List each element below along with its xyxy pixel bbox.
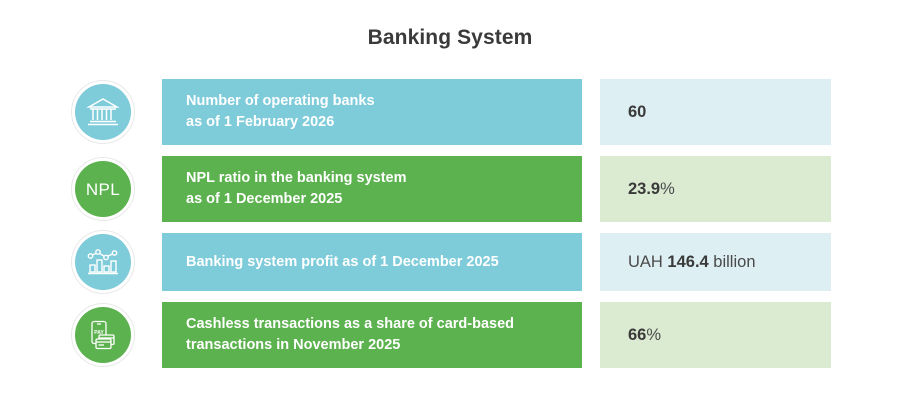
- value-main: 146.4: [667, 253, 708, 271]
- metric-value: 60: [628, 103, 646, 121]
- icon-badge: NPL: [75, 161, 131, 217]
- bar-chart-line-icon: [71, 230, 135, 294]
- metric-value-box: UAH 146.4 billion: [600, 233, 831, 291]
- page-title: Banking System: [0, 26, 900, 50]
- metric-value: 66%: [628, 326, 661, 344]
- metric-value: UAH 146.4 billion: [628, 253, 756, 271]
- value-suffix: %: [646, 326, 661, 344]
- metric-label: Number of operating banks as of 1 Februa…: [186, 91, 375, 133]
- metric-value-box: 60: [600, 79, 831, 145]
- bank-building-icon: [71, 80, 135, 144]
- icon-badge: [75, 234, 131, 290]
- metric-label-bar: Cashless transactions as a share of card…: [162, 302, 582, 368]
- metric-label: NPL ratio in the banking system as of 1 …: [186, 168, 407, 210]
- metric-label: Banking system profit as of 1 December 2…: [186, 252, 499, 273]
- value-main: 66: [628, 326, 646, 344]
- infographic-panel: Banking System Number of operating banks…: [0, 0, 900, 400]
- metric-label-bar: NPL ratio in the banking system as of 1 …: [162, 156, 582, 222]
- value-suffix: billion: [709, 253, 756, 271]
- icon-badge: PAY: [75, 307, 131, 363]
- value-main: 23.9: [628, 180, 660, 198]
- value-main: 60: [628, 103, 646, 121]
- value-prefix: UAH: [628, 253, 667, 271]
- metric-value: 23.9%: [628, 180, 675, 198]
- metric-label-bar: Number of operating banks as of 1 Februa…: [162, 79, 582, 145]
- metric-value-box: 23.9%: [600, 156, 831, 222]
- metric-label-bar: Banking system profit as of 1 December 2…: [162, 233, 582, 291]
- metric-row: NPL NPL ratio in the banking system as o…: [0, 156, 900, 222]
- icon-badge: [75, 84, 131, 140]
- metric-label: Cashless transactions as a share of card…: [186, 314, 514, 356]
- metric-rows: Number of operating banks as of 1 Februa…: [0, 79, 900, 379]
- metric-value-box: 66%: [600, 302, 831, 368]
- metric-row: Number of operating banks as of 1 Februa…: [0, 79, 900, 145]
- metric-row: Banking system profit as of 1 December 2…: [0, 233, 900, 291]
- value-suffix: %: [660, 180, 675, 198]
- npl-label-icon: NPL: [71, 157, 135, 221]
- npl-icon-text: NPL: [86, 181, 120, 198]
- metric-row: PAY Cashless transactions as a share of …: [0, 302, 900, 368]
- mobile-pay-card-icon: PAY: [71, 303, 135, 367]
